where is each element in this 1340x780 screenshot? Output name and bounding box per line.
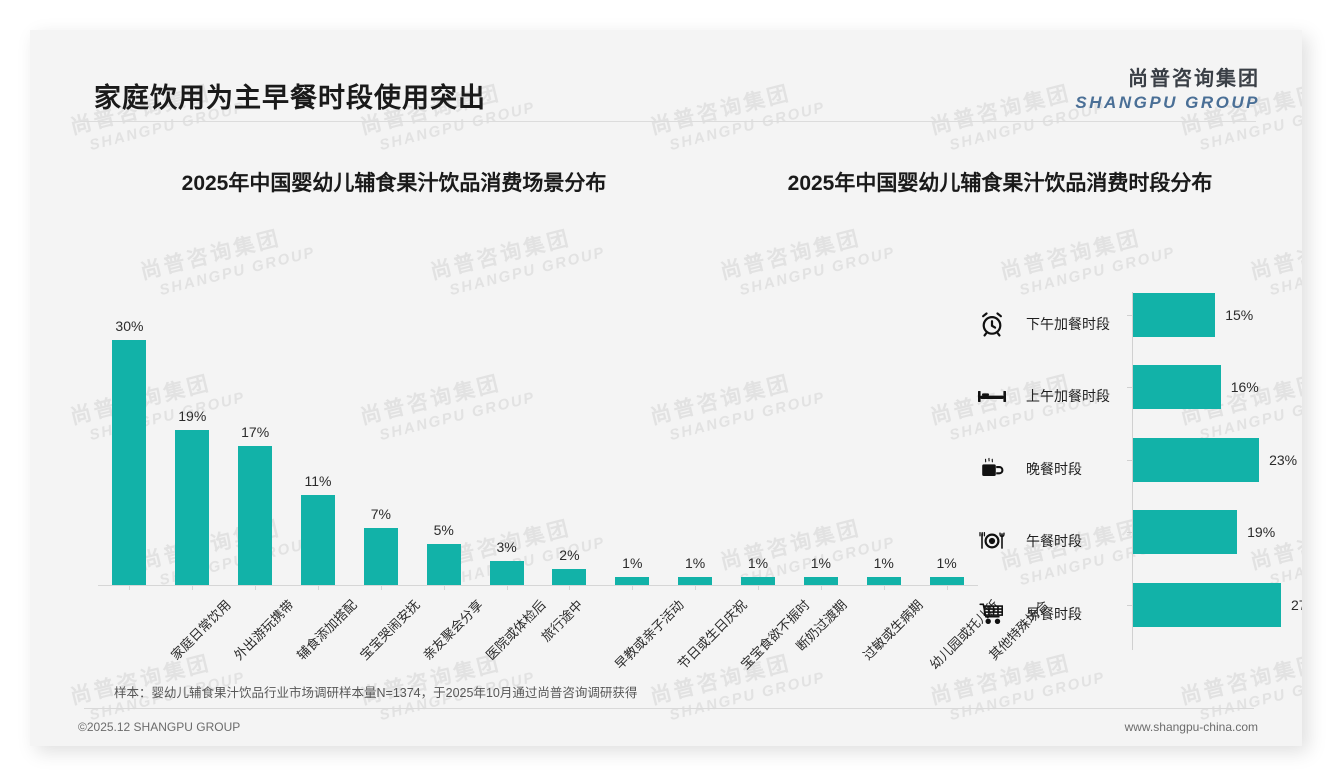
bar[interactable] (1133, 438, 1259, 482)
x-axis-category-label: 过敏或生病期 (858, 595, 927, 664)
bar-value-label: 30% (115, 318, 143, 334)
shopping-cart-icon (970, 594, 1014, 634)
slide-canvas: 尚普咨询集团SHANGPU GROUP尚普咨询集团SHANGPU GROUP尚普… (30, 30, 1302, 746)
x-axis-category-label: 宝宝哭闹安抚 (355, 595, 424, 664)
axis-tick (507, 585, 508, 590)
bar-value-label: 1% (748, 555, 768, 571)
bar-value-label: 1% (936, 555, 956, 571)
x-axis-category-label: 外出游玩携带 (229, 595, 298, 664)
axis-tick (1127, 460, 1133, 461)
copyright-text: ©2025.12 SHANGPU GROUP (78, 720, 240, 734)
time-slot-label: 晚餐时段 (1014, 459, 1122, 479)
bar[interactable] (867, 577, 901, 585)
bar-column[interactable]: 19% (175, 408, 209, 585)
axis-tick (192, 585, 193, 590)
horizontal-bar-group[interactable]: 15% (1133, 293, 1253, 337)
bar[interactable] (930, 577, 964, 585)
horizontal-bar-group[interactable]: 16% (1133, 365, 1259, 409)
time-slot-label: 下午加餐时段 (1014, 314, 1122, 334)
bar-value-label: 7% (371, 506, 391, 522)
axis-tick (821, 585, 822, 590)
bar-column[interactable]: 2% (552, 547, 586, 585)
time-slot-label: 早餐时段 (1014, 604, 1122, 624)
bar-column[interactable]: 7% (364, 506, 398, 585)
bed-icon (970, 376, 1014, 416)
charts-container: 2025年中国婴幼儿辅食果汁饮品消费场景分布 2025年中国婴幼儿辅食果汁饮品消… (30, 30, 1302, 746)
bar[interactable] (1133, 365, 1221, 409)
bar[interactable] (615, 577, 649, 585)
bar-value-label: 17% (241, 424, 269, 440)
bar[interactable] (301, 495, 335, 585)
time-slot-label: 午餐时段 (1014, 531, 1122, 551)
axis-tick (947, 585, 948, 590)
bar-column[interactable]: 30% (112, 318, 146, 585)
x-axis-category-label: 家庭日常饮用 (166, 595, 235, 664)
bar-column[interactable]: 1% (804, 555, 838, 585)
bar-value-label: 19% (1247, 524, 1275, 540)
bar-column[interactable]: 3% (490, 539, 524, 586)
bar[interactable] (112, 340, 146, 585)
bar-column[interactable]: 17% (238, 424, 272, 585)
time-slot-label: 上午加餐时段 (1014, 386, 1122, 406)
bar-column[interactable]: 1% (867, 555, 901, 585)
bar-column[interactable]: 11% (301, 473, 335, 585)
bar-value-label: 23% (1269, 452, 1297, 468)
axis-tick (1127, 315, 1133, 316)
bar-value-label: 3% (496, 539, 516, 555)
axis-tick (129, 585, 130, 590)
bar-column[interactable]: 1% (615, 555, 649, 585)
page-title: 家庭饮用为主早餐时段使用突出 (94, 76, 486, 115)
slide-header: 家庭饮用为主早餐时段使用突出 尚普咨询集团 SHANGPU GROUP (30, 30, 1302, 122)
axis-tick (1127, 387, 1133, 388)
bar[interactable] (552, 569, 586, 585)
bar-column[interactable]: 1% (741, 555, 775, 585)
bar-value-label: 11% (305, 473, 332, 489)
axis-tick (695, 585, 696, 590)
scene-distribution-bar-chart: 30%19%17%11%7%5%3%2%1%1%1%1%1%1% (98, 285, 978, 585)
bar[interactable] (1133, 293, 1215, 337)
axis-tick (632, 585, 633, 590)
bar[interactable] (364, 528, 398, 585)
header-divider (80, 121, 1256, 122)
axis-tick (318, 585, 319, 590)
axis-tick (444, 585, 445, 590)
axis-tick (255, 585, 256, 590)
bar-value-label: 27% (1291, 597, 1302, 613)
bar-value-label: 2% (559, 547, 579, 563)
axis-tick (884, 585, 885, 590)
bar[interactable] (1133, 583, 1281, 627)
bar[interactable] (427, 544, 461, 585)
left-chart-axis-line (98, 585, 978, 586)
bar-value-label: 5% (434, 522, 454, 538)
horizontal-bar-group[interactable]: 19% (1133, 510, 1275, 554)
bar[interactable] (1133, 510, 1237, 554)
x-axis-category-label: 辅食添加搭配 (292, 595, 361, 664)
bar-value-label: 15% (1225, 307, 1253, 323)
horizontal-bar-group[interactable]: 27% (1133, 583, 1302, 627)
logo-text-en: SHANGPU GROUP (1075, 93, 1260, 113)
bar[interactable] (804, 577, 838, 585)
axis-tick (569, 585, 570, 590)
website-link[interactable]: www.shangpu-china.com (1125, 720, 1258, 734)
bar[interactable] (490, 561, 524, 586)
bar-value-label: 1% (811, 555, 831, 571)
x-axis-category-label: 亲友聚会分享 (418, 595, 487, 664)
axis-tick (1127, 605, 1133, 606)
alarm-clock-icon (970, 304, 1014, 344)
bar-column[interactable]: 1% (678, 555, 712, 585)
brand-logo: 尚普咨询集团 SHANGPU GROUP (1075, 62, 1260, 113)
bar-value-label: 19% (178, 408, 206, 424)
footer-divider (84, 708, 1254, 709)
axis-tick (381, 585, 382, 590)
bar[interactable] (175, 430, 209, 585)
left-chart-title: 2025年中国婴幼儿辅食果汁饮品消费场景分布 (84, 170, 704, 199)
horizontal-bar-group[interactable]: 23% (1133, 438, 1297, 482)
right-chart-title: 2025年中国婴幼儿辅食果汁饮品消费时段分布 (730, 170, 1270, 199)
coffee-mug-icon (970, 449, 1014, 489)
bar-value-label: 1% (622, 555, 642, 571)
bar-value-label: 1% (874, 555, 894, 571)
bar-column[interactable]: 1% (930, 555, 964, 585)
sample-footnote: 样本：婴幼儿辅食果汁饮品行业市场调研样本量N=1374，于2025年10月通过尚… (114, 682, 637, 701)
logo-text-cn: 尚普咨询集团 (1075, 62, 1260, 91)
bar-column[interactable]: 5% (427, 522, 461, 585)
axis-tick (1127, 532, 1133, 533)
bar[interactable] (741, 577, 775, 585)
plate-cutlery-icon (970, 521, 1014, 561)
bar[interactable] (238, 446, 272, 585)
axis-tick (758, 585, 759, 590)
bar-value-label: 1% (685, 555, 705, 571)
bar[interactable] (678, 577, 712, 585)
bar-value-label: 16% (1231, 379, 1259, 395)
